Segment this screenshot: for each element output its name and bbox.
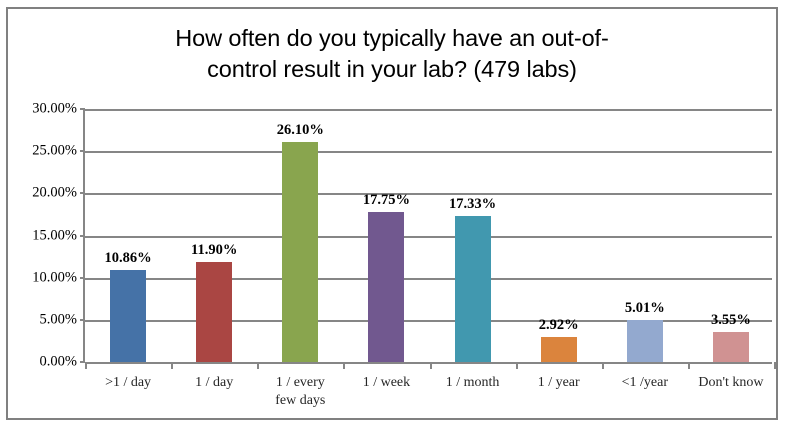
y-axis-tick-label: 15.00% — [32, 227, 77, 244]
bar-value-label: 2.92% — [539, 317, 579, 334]
bar-slot: 17.75% — [343, 109, 429, 362]
bar[interactable] — [455, 216, 491, 362]
y-axis-tick-label: 30.00% — [32, 101, 77, 118]
bar-slot: 11.90% — [171, 109, 257, 362]
bar[interactable] — [713, 332, 749, 362]
bar[interactable] — [627, 320, 663, 362]
y-axis-tick-label: 25.00% — [32, 143, 77, 160]
x-axis-tick-mark — [516, 362, 518, 369]
x-axis-category-label: Don't know — [686, 374, 776, 392]
bars-group: 10.86%11.90%26.10%17.75%17.33%2.92%5.01%… — [85, 109, 772, 362]
x-axis-tick-mark — [343, 362, 345, 369]
x-axis-tick-mark — [688, 362, 690, 369]
bar-slot: 10.86% — [85, 109, 171, 362]
chart-frame: How often do you typically have an out-o… — [6, 7, 778, 420]
plot-area: 0.00%5.00%10.00%15.00%20.00%25.00%30.00%… — [83, 109, 772, 362]
bar-slot: 2.92% — [516, 109, 602, 362]
bar[interactable] — [368, 212, 404, 362]
bar[interactable] — [196, 262, 232, 362]
x-axis-tick-mark — [602, 362, 604, 369]
bar-value-label: 5.01% — [625, 300, 665, 317]
y-axis-tick-label: 5.00% — [40, 311, 77, 328]
chart-title: How often do you typically have an out-o… — [8, 23, 776, 85]
bar-value-label: 3.55% — [711, 312, 751, 329]
x-axis-line — [85, 362, 772, 364]
bar[interactable] — [541, 337, 577, 362]
x-axis-category-label: 1 / month — [428, 374, 518, 392]
bar-value-label: 10.86% — [105, 250, 152, 267]
bar-slot: 5.01% — [602, 109, 688, 362]
y-axis-tick-label: 0.00% — [40, 354, 77, 371]
y-axis-tick-label: 10.00% — [32, 269, 77, 286]
bar-slot: 3.55% — [688, 109, 774, 362]
x-axis-tick-mark — [430, 362, 432, 369]
bar-value-label: 11.90% — [191, 242, 237, 259]
bar-value-label: 17.75% — [363, 192, 410, 209]
x-axis-category-label: 1 / day — [169, 374, 259, 392]
x-axis-tick-mark — [85, 362, 87, 369]
bar-value-label: 26.10% — [277, 122, 324, 139]
bar-slot: 26.10% — [257, 109, 343, 362]
bar-slot: 17.33% — [430, 109, 516, 362]
x-axis-tick-mark — [171, 362, 173, 369]
x-axis-category-label: 1 / every few days — [255, 374, 345, 410]
bar[interactable] — [282, 142, 318, 362]
bar-value-label: 17.33% — [449, 196, 496, 213]
x-axis-category-label: 1 / week — [341, 374, 431, 392]
bar[interactable] — [110, 270, 146, 362]
y-axis-tick-label: 20.00% — [32, 185, 77, 202]
x-axis-tick-mark — [774, 362, 776, 369]
x-axis-category-label: >1 / day — [83, 374, 173, 392]
x-axis-tick-mark — [257, 362, 259, 369]
x-axis-category-label: <1 /year — [600, 374, 690, 392]
x-axis-category-label: 1 / year — [514, 374, 604, 392]
